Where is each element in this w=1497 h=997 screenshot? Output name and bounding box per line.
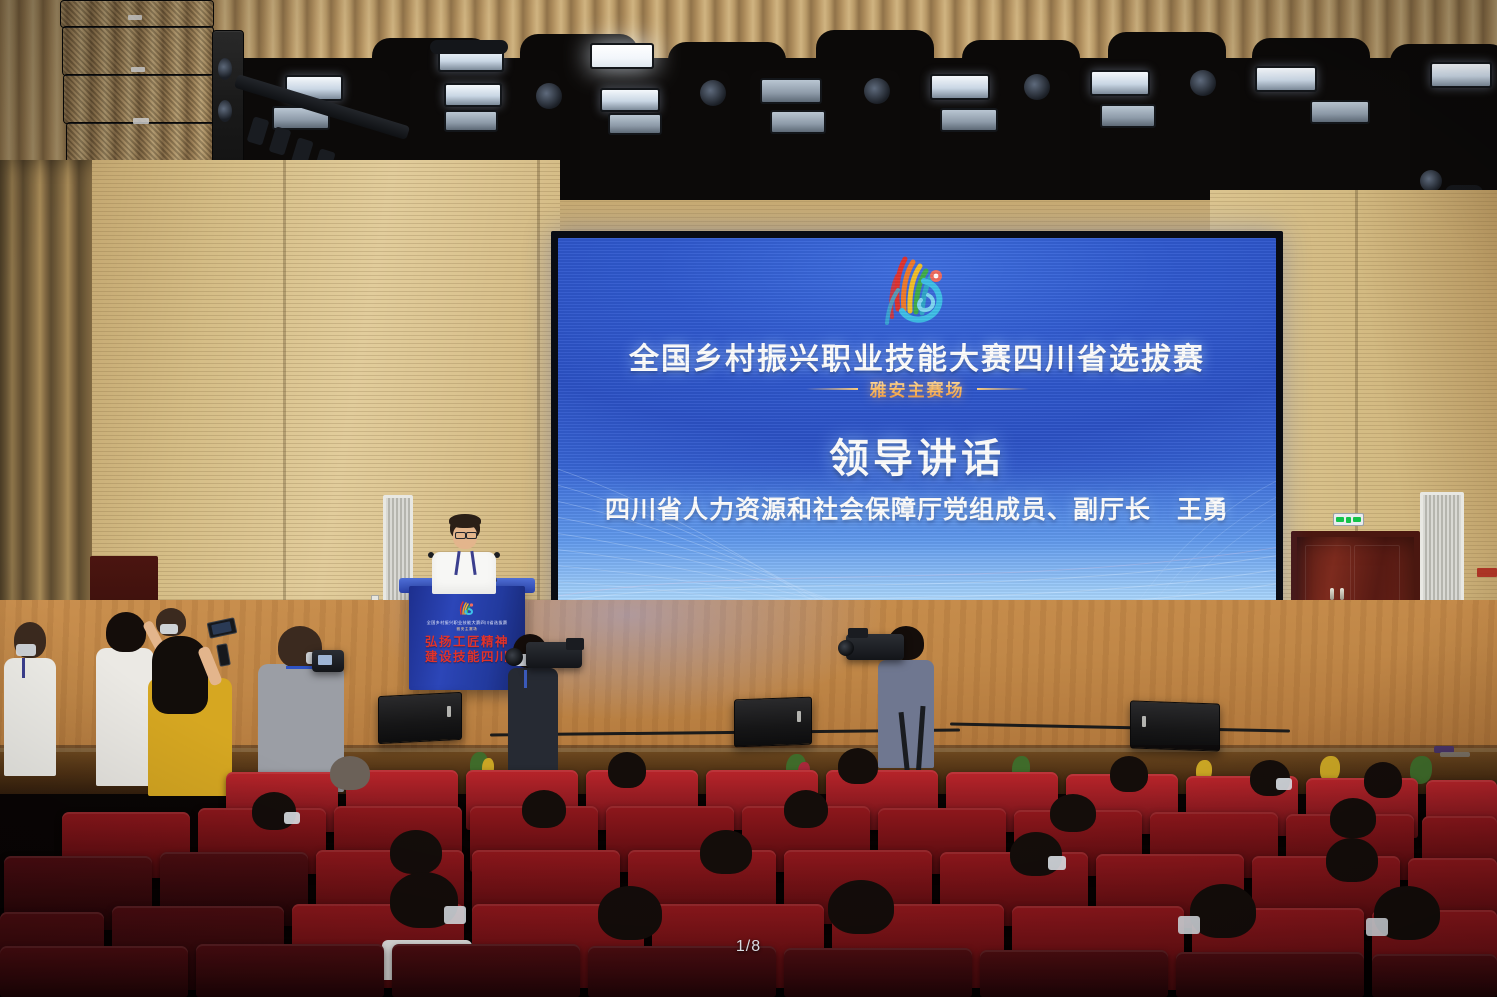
- audience-seat: [1372, 954, 1497, 997]
- subtitle-rule-left: [806, 388, 858, 390]
- moving-head-lens: [1420, 170, 1442, 192]
- rigging-hole: [218, 100, 232, 122]
- photographer-head: [106, 612, 146, 652]
- audience-seat: [980, 950, 1168, 997]
- face-mask: [284, 812, 300, 824]
- audience-head: [1364, 762, 1402, 798]
- page-indicator: 1/8: [0, 938, 1497, 956]
- screen-speaker-line: 四川省人力资源和社会保障厅党组成员、副厅长 王勇: [558, 490, 1276, 526]
- stage-light-fixture: [600, 88, 660, 112]
- face-mask: [1366, 918, 1388, 936]
- exit-sign: [1333, 513, 1364, 526]
- podium-logo-icon: [455, 600, 477, 616]
- audience-head: [1330, 798, 1376, 838]
- phone-screen: [211, 621, 232, 635]
- competition-logo: [558, 250, 1276, 330]
- stage-light-fixture: [1090, 70, 1150, 96]
- photographer-body: [96, 648, 154, 786]
- audience-head: [1110, 756, 1148, 792]
- speaker-glasses-left: [455, 532, 466, 539]
- wall-safety-sign: [1477, 568, 1497, 577]
- stage-light-fixture: [930, 74, 990, 100]
- speaker-badge: [131, 67, 145, 72]
- led-screen-frame: 全国乡村振兴职业技能大赛四川省选拔赛 雅安主赛场 领导讲话 四川省人力资源和社会…: [551, 231, 1283, 639]
- audience-head: [784, 790, 828, 828]
- screen-title: 全国乡村振兴职业技能大赛四川省选拔赛: [558, 334, 1276, 378]
- speaker-hair-top: [449, 514, 481, 528]
- stage-light-fixture: [1430, 62, 1492, 88]
- moving-head-lens: [864, 78, 890, 104]
- line-array-speaker: [63, 74, 216, 124]
- moving-head-lens: [1190, 70, 1216, 96]
- monitor-badge: [797, 711, 801, 722]
- monitor-badge: [447, 706, 451, 717]
- stage-light-housing: [430, 40, 508, 54]
- phoenix-feather-logo-icon: [874, 251, 960, 329]
- speaker-badge: [133, 118, 149, 124]
- stage-monitor-speaker: [378, 692, 462, 744]
- podium-calligraphy-line2: 建设技能四川: [415, 650, 519, 665]
- audience-head: [252, 792, 296, 830]
- stage-light-fixture: [1100, 104, 1156, 128]
- podium-calligraphy-line1: 弘扬工匠精神: [415, 635, 519, 650]
- stage-light-fixture: [444, 110, 498, 132]
- standing-attendee-body: [4, 658, 56, 776]
- audience-head: [608, 752, 646, 788]
- rigging-hole: [218, 58, 232, 80]
- podium-banner-title: 全国乡村振兴职业技能大赛四川省选拔赛: [418, 620, 516, 626]
- door-handle[interactable]: [1340, 588, 1344, 600]
- screen-subtitle-text: 雅安主赛场: [870, 376, 965, 401]
- stage-light-fixture: [770, 110, 826, 134]
- audience-head: [828, 880, 894, 934]
- line-array-speaker: [60, 0, 214, 28]
- face-mask: [444, 906, 466, 924]
- screen-subtitle: 雅安主赛场: [558, 376, 1276, 401]
- stage-light-fixture: [444, 83, 502, 107]
- monitor-badge: [1142, 716, 1146, 727]
- stage-light-fixture: [1310, 100, 1370, 124]
- podium-calligraphy: 弘扬工匠精神 建设技能四川: [415, 635, 519, 665]
- podium-banner-subtitle: 雅安主赛场: [418, 627, 516, 632]
- videographer-body: [508, 668, 558, 778]
- face-mask: [1178, 916, 1200, 934]
- audience-head: [1050, 794, 1096, 832]
- audience-head: [700, 830, 752, 874]
- camera-screen: [318, 655, 332, 665]
- stage-light-fixture: [940, 108, 998, 132]
- audience-head: [838, 748, 878, 784]
- stage-light-fixture: [608, 113, 662, 135]
- camera-lens: [505, 648, 523, 666]
- camera-viewfinder: [848, 628, 868, 638]
- face-mask: [1276, 778, 1292, 790]
- camera-lens: [838, 640, 854, 656]
- screen-heading: 领导讲话: [558, 426, 1276, 484]
- moving-head-lens: [1024, 74, 1050, 100]
- stage-light-fixture: [760, 78, 822, 104]
- face-mask: [160, 624, 178, 634]
- audience-head: [522, 790, 566, 828]
- lanyard: [524, 670, 527, 688]
- audience-head: [330, 756, 370, 790]
- stage-light-fixture: [1255, 66, 1317, 92]
- led-screen: 全国乡村振兴职业技能大赛四川省选拔赛 雅安主赛场 领导讲话 四川省人力资源和社会…: [558, 238, 1276, 632]
- speaker-glasses-right: [466, 532, 477, 539]
- subtitle-rule-right: [977, 388, 1029, 390]
- speaker-badge: [128, 15, 142, 20]
- audience-head: [390, 830, 442, 874]
- audience-head: [598, 886, 662, 940]
- door-handle[interactable]: [1330, 588, 1334, 600]
- stage-monitor-speaker: [734, 697, 812, 748]
- lanyard: [22, 658, 25, 678]
- camera-viewfinder: [566, 638, 584, 650]
- audience-head: [1326, 838, 1378, 882]
- auditorium-photo: 全国乡村振兴职业技能大赛四川省选拔赛 雅安主赛场 领导讲话 四川省人力资源和社会…: [0, 0, 1497, 997]
- audience-seat: [1176, 952, 1364, 997]
- stage-light-fixture: [590, 43, 654, 69]
- speaker-torso: [432, 552, 496, 594]
- moving-head-lens: [536, 83, 562, 109]
- moving-head-lens: [700, 80, 726, 106]
- face-mask: [16, 644, 36, 656]
- face-mask: [1048, 856, 1066, 870]
